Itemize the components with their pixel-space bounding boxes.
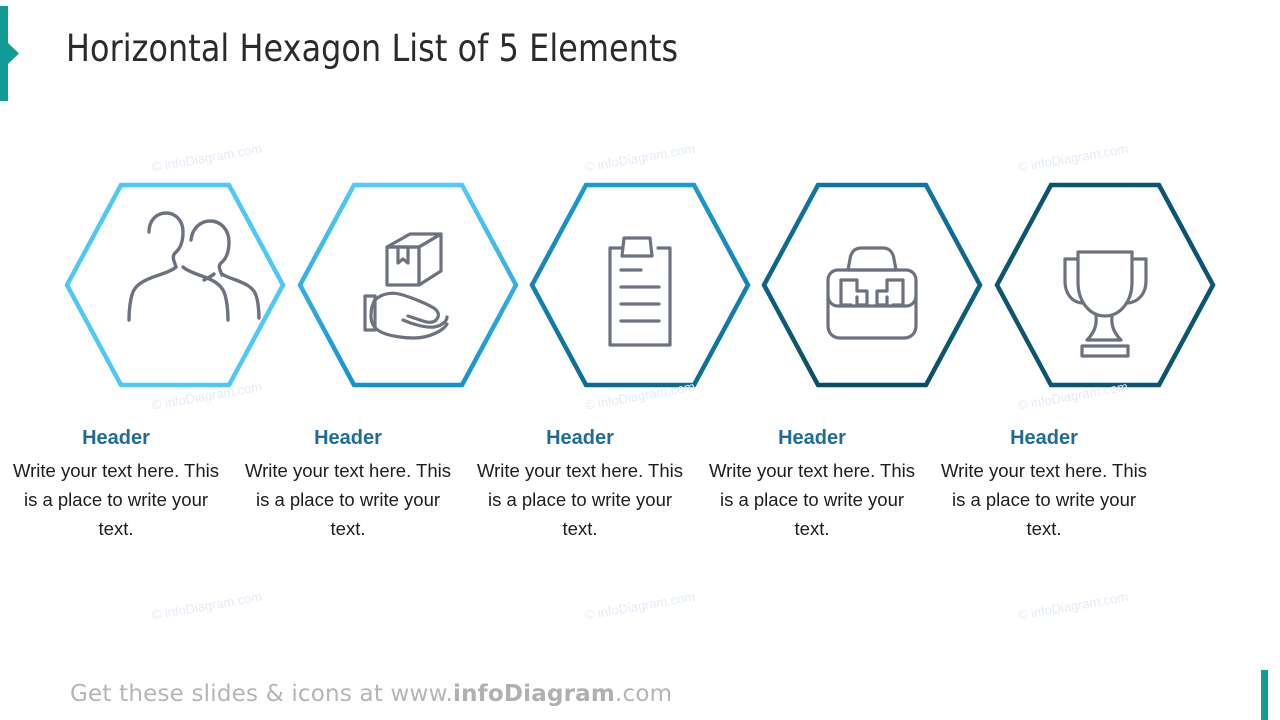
caption-col-4: Header Write your text here. This is a p… bbox=[696, 425, 928, 555]
footer-accent-bar bbox=[1261, 670, 1268, 720]
hexagon-diagram bbox=[0, 160, 1280, 410]
footer-suffix: .com bbox=[615, 681, 672, 707]
caption-body-2: Write your text here. This is a place to… bbox=[232, 456, 464, 543]
caption-header-1: Header bbox=[0, 425, 232, 452]
caption-header-4: Header bbox=[696, 425, 928, 452]
caption-body-4: Write your text here. This is a place to… bbox=[696, 456, 928, 543]
trophy-icon bbox=[1065, 252, 1146, 356]
caption-header-5: Header bbox=[928, 425, 1160, 452]
title-accent-marker bbox=[0, 6, 22, 101]
watermark-7: © infoDiagram.com bbox=[151, 589, 263, 623]
caption-body-1: Write your text here. This is a place to… bbox=[0, 456, 232, 543]
caption-body-3: Write your text here. This is a place to… bbox=[464, 456, 696, 543]
caption-col-3: Header Write your text here. This is a p… bbox=[464, 425, 696, 555]
page-title: Horizontal Hexagon List of 5 Elements bbox=[66, 27, 678, 70]
caption-col-2: Header Write your text here. This is a p… bbox=[232, 425, 464, 555]
toolbox-icon bbox=[828, 248, 916, 338]
footer-brand: infoDiagram bbox=[453, 681, 615, 707]
caption-col-1: Header Write your text here. This is a p… bbox=[0, 425, 232, 555]
caption-col-5: Header Write your text here. This is a p… bbox=[928, 425, 1160, 555]
hexagon-item-2[interactable] bbox=[300, 185, 516, 385]
caption-header-3: Header bbox=[464, 425, 696, 452]
caption-body-5: Write your text here. This is a place to… bbox=[928, 456, 1160, 543]
two-people-icon bbox=[129, 213, 259, 320]
package-on-hand-icon bbox=[365, 234, 447, 338]
hexagon-item-1[interactable] bbox=[67, 185, 283, 385]
watermark-8: © infoDiagram.com bbox=[584, 589, 696, 623]
hexagon-item-4[interactable] bbox=[764, 185, 980, 385]
watermark-9: © infoDiagram.com bbox=[1017, 589, 1129, 623]
clipboard-icon bbox=[610, 238, 670, 345]
hexagon-item-5[interactable] bbox=[997, 185, 1213, 385]
hexagon-item-3[interactable] bbox=[532, 185, 748, 385]
footer-prefix: Get these slides & icons at www. bbox=[70, 681, 453, 707]
hexagon-outline-4 bbox=[764, 185, 980, 385]
footer-credit: Get these slides & icons at www.infoDiag… bbox=[70, 681, 672, 707]
caption-header-2: Header bbox=[232, 425, 464, 452]
hexagon-outline-3 bbox=[532, 185, 748, 385]
caption-row: Header Write your text here. This is a p… bbox=[0, 425, 1280, 555]
